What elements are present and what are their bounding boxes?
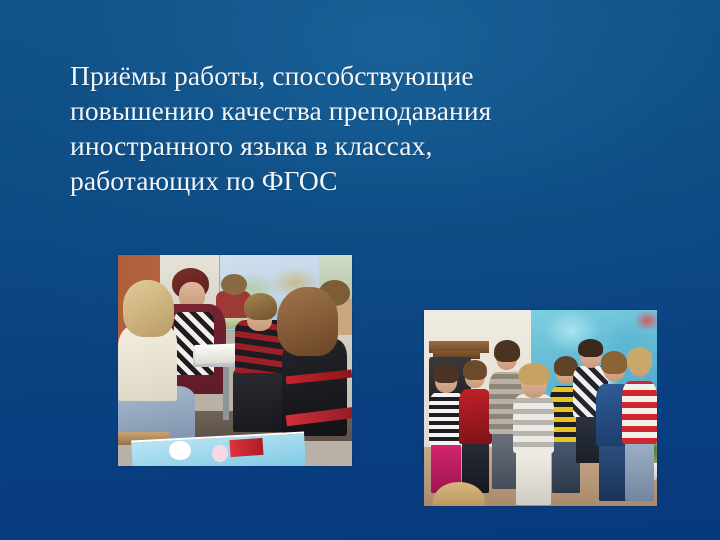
photo-child-2: [459, 365, 492, 490]
photo-poster-red-band: [230, 437, 264, 456]
photo-student-girl-long-hair: [277, 287, 338, 357]
classroom-group-work-photo: [118, 255, 352, 466]
title-line-2: повышению качества преподавания: [70, 93, 590, 128]
photo-child-2-torso: [459, 389, 492, 444]
photo-child-8-hair: [627, 347, 653, 370]
photo-child-4-hair: [518, 363, 549, 384]
photo-poster-circle-2: [212, 445, 228, 462]
presentation-slide: Приёмы работы, способствующие повышению …: [0, 0, 720, 540]
photo-poster-circle-1: [169, 441, 190, 460]
photo-child-4-back-turned: [513, 369, 555, 502]
photo-desk-leg-1: [223, 365, 229, 420]
photo-child-8: [622, 353, 657, 498]
photo-student-boy-hair: [244, 293, 277, 320]
students-circle-activity-photo: [424, 310, 657, 506]
title-line-1: Приёмы работы, способствующие: [70, 58, 590, 93]
photo-child-4-torso: [513, 394, 555, 453]
photo-child-1-hair: [433, 364, 459, 383]
photo-student-blonde-hair: [123, 280, 174, 337]
photo-child-3-hair: [494, 340, 520, 363]
photo-child-4-legs: [516, 449, 551, 505]
title-line-4: работающих по ФГОС: [70, 163, 590, 198]
photo-student-boy-trousers: [233, 369, 284, 432]
photo-child-8-torso: [622, 381, 657, 445]
photo-child-2-hair: [463, 360, 487, 380]
photo-child-8-legs: [625, 440, 654, 501]
title-line-3: иностранного языка в классах,: [70, 128, 590, 163]
photo-child-6-hair: [578, 339, 604, 358]
page-title: Приёмы работы, способствующие повышению …: [70, 58, 590, 198]
photo-background-student-1-head: [221, 274, 247, 295]
